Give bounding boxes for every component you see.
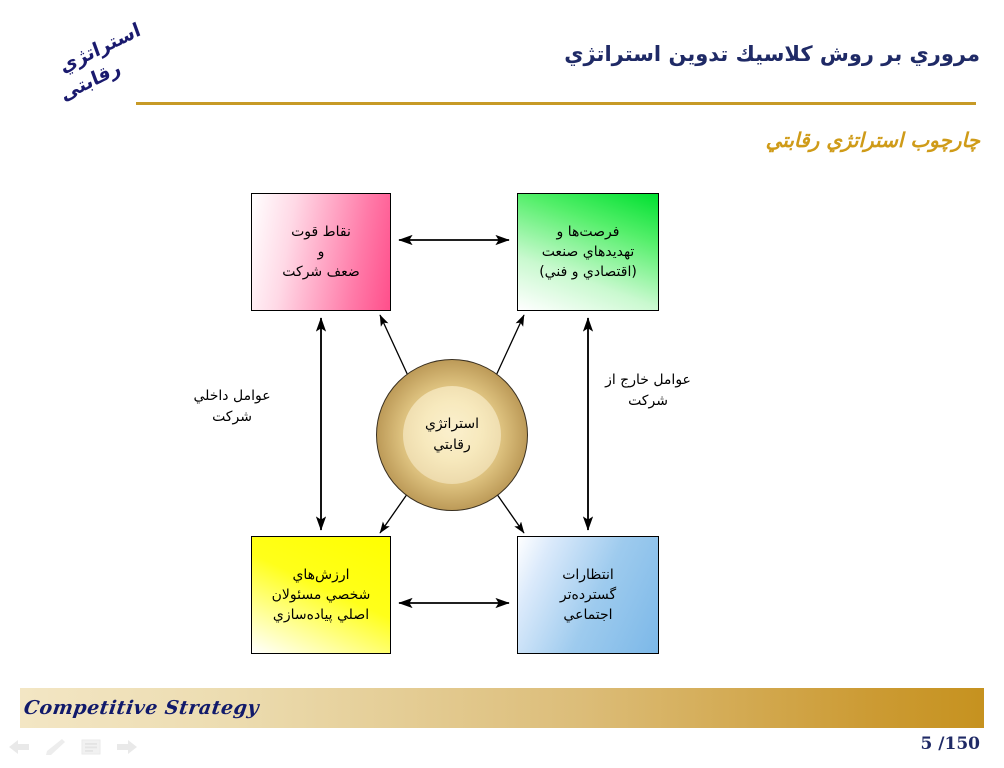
connector-center-to-values <box>380 490 410 533</box>
box-societal-expectations[interactable]: انتظارات گسترده‌تر اجتماعي <box>517 536 659 654</box>
box-values-line2: شخصي مسئولان <box>272 585 371 605</box>
navigation-controls <box>8 738 138 756</box>
box-expect-line1: انتظارات <box>560 565 616 585</box>
slide-canvas: استراتژي رقابتی مروري بر روش كلاسيك تدوي… <box>0 0 1004 768</box>
box-strengths-line3: ضعف شركت <box>282 262 359 282</box>
box-expect-line3: اجتماعي <box>560 605 616 625</box>
center-node-competitive-strategy[interactable]: استراتژي رقابتي <box>376 359 528 511</box>
connector-center-to-industry <box>494 315 524 380</box>
label-external-line2: شركت <box>588 391 708 412</box>
box-values-line1: ارزش‌هاي <box>272 565 371 585</box>
center-node-inner: استراتژي رقابتي <box>403 386 501 484</box>
list-icon[interactable] <box>80 738 102 756</box>
diagram-connectors <box>0 0 1004 700</box>
footer-brand-text: Competitive Strategy <box>22 697 260 719</box>
box-personal-values[interactable]: ارزش‌هاي شخصي مسئولان اصلي پياده‌سازي <box>251 536 391 654</box>
label-external-line1: عوامل خارج از <box>588 370 708 391</box>
page-indicator: 5 /150 <box>921 734 980 754</box>
box-strengths-weaknesses[interactable]: نقاط قوت و ضعف شركت <box>251 193 391 311</box>
label-external-factors: عوامل خارج از شركت <box>588 370 708 412</box>
label-internal-line2: شركت <box>172 407 292 428</box>
box-industry-line2: تهديدهاي صنعت <box>539 242 637 262</box>
box-strengths-line1: نقاط قوت <box>282 222 359 242</box>
forward-arrow-icon[interactable] <box>116 738 138 756</box>
back-arrow-icon[interactable] <box>8 738 30 756</box>
label-internal-factors: عوامل داخلي شركت <box>172 386 292 428</box>
box-industry-line3: (اقتصادي و فني) <box>539 262 637 282</box>
strategy-framework-diagram: نقاط قوت و ضعف شركت فرصت‌ها و تهديدهاي ص… <box>0 0 1004 700</box>
box-strengths-line2: و <box>282 242 359 262</box>
box-industry-line1: فرصت‌ها و <box>539 222 637 242</box>
pen-icon[interactable] <box>44 738 66 756</box>
box-industry-opportunities[interactable]: فرصت‌ها و تهديدهاي صنعت (اقتصادي و فني) <box>517 193 659 311</box>
box-values-line3: اصلي پياده‌سازي <box>272 605 371 625</box>
label-internal-line1: عوامل داخلي <box>172 386 292 407</box>
center-node-line1: استراتژي <box>425 414 479 435</box>
center-node-line2: رقابتي <box>425 435 479 456</box>
connector-center-to-strengths <box>380 315 410 380</box>
box-expect-line2: گسترده‌تر <box>560 585 616 605</box>
connector-center-to-expectations <box>494 490 524 533</box>
